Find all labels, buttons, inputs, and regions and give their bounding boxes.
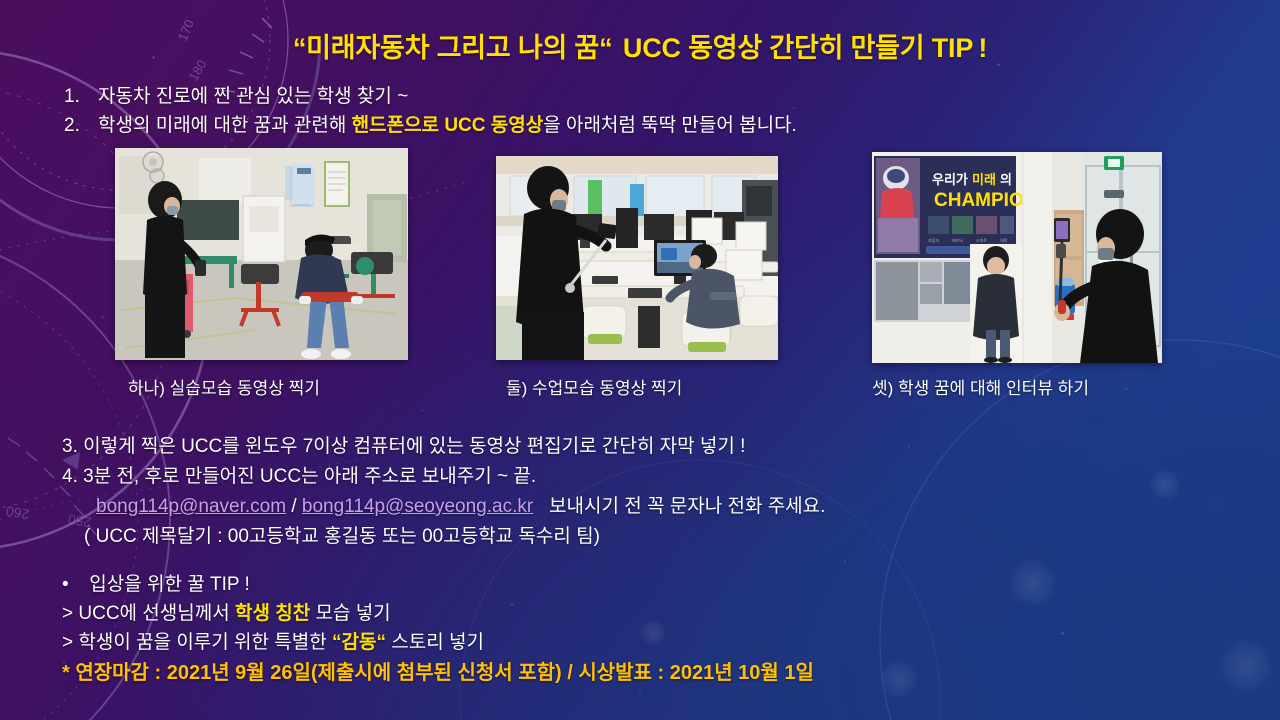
photo-caption: 셋) 학생 꿈에 대해 인터뷰 하기 xyxy=(872,374,1089,399)
step2-highlight: 핸드폰으로 UCC 동영상 xyxy=(352,115,544,136)
tips-heading-text: 입상을 위한 꿀 TIP ! xyxy=(89,574,250,595)
svg-text:대학: 대학 xyxy=(1000,237,1008,243)
numbered-step-list: 1. 자동차 진로에 찐 관심 있는 학생 찾기 ~ 2. 학생의 미래에 대한… xyxy=(64,84,1124,142)
photo-caption: 하나) 실습모습 동영상 찍기 xyxy=(128,374,320,399)
email-link-seoyeong[interactable]: bong114p@seoyeong.ac.kr xyxy=(302,496,533,517)
step-3-line: 3. 이렇게 찍은 UCC를 윈도우 7이상 컴퓨터에 있는 동영상 편집기로 … xyxy=(62,432,1182,462)
list-item-text: 학생의 미래에 대한 꿈과 관련해 핸드폰으로 UCC 동영상을 아래처럼 뚝딱… xyxy=(98,113,797,139)
bullet-dot-icon: • xyxy=(62,570,84,599)
tip1-after: 모습 넣기 xyxy=(310,603,390,624)
tips-heading: • 입상을 위한 꿀 TIP ! xyxy=(62,570,1222,599)
title-rule-line: ( UCC 제목달기 : 00고등학교 홍길동 또는 00고등학교 독수리 팀) xyxy=(62,522,1182,552)
list-item: 2. 학생의 미래에 대한 꿈과 관련해 핸드폰으로 UCC 동영상을 아래처럼… xyxy=(64,113,1124,139)
photo-caption: 둘) 수업모습 동영상 찍기 xyxy=(506,374,682,399)
email-line: bong114p@naver.com / bong114p@seoyeong.a… xyxy=(62,492,1182,522)
slide-title: “미래자동차 그리고 나의 꿈“ UCC 동영상 간단히 만들기 TIP ! xyxy=(0,26,1280,65)
email-separator: / xyxy=(291,496,296,517)
list-item-index: 1. xyxy=(64,84,98,110)
svg-text:자동차: 자동차 xyxy=(928,237,939,243)
photo-practice-filming xyxy=(115,148,408,360)
deadline-line: * 연장마감 : 2021년 9월 26일(제출시에 첨부된 신청서 포함) /… xyxy=(62,657,1222,689)
tip2-after: 스토리 넣기 xyxy=(386,632,484,653)
step2-text-after: 을 아래처럼 뚝딱 만들어 봅니다. xyxy=(543,115,797,136)
poster-text-line1c: 의 xyxy=(1000,172,1012,187)
tip-line-2: > 학생이 꿈을 이루기 위한 특별한 “감동“ 스토리 넣기 xyxy=(62,628,1222,657)
photo-class-filming xyxy=(496,156,778,360)
list-item-text: 자동차 진로에 찐 관심 있는 학생 찾기 ~ xyxy=(98,84,408,110)
svg-text:스마트: 스마트 xyxy=(976,237,987,243)
tip1-before: > UCC에 선생님께서 xyxy=(62,603,235,624)
lower-instruction-block: 3. 이렇게 찍은 UCC를 윈도우 7이상 컴퓨터에 있는 동영상 편집기로 … xyxy=(62,432,1182,552)
title-rest-part: UCC 동영상 간단히 만들기 TIP ! xyxy=(623,33,987,63)
step-4-line: 4. 3분 전, 후로 만들어진 UCC는 아래 주소로 보내주기 ~ 끝. xyxy=(62,462,1182,492)
step2-text-before: 학생의 미래에 대한 꿈과 관련해 xyxy=(98,115,352,136)
tip1-highlight: 학생 칭찬 xyxy=(235,603,310,624)
svg-text:메카닉: 메카닉 xyxy=(952,237,963,243)
title-quoted-part: “미래자동차 그리고 나의 꿈“ xyxy=(293,33,613,63)
slide-canvas: 170 180 260 250 “미래자동차 그리고 나의 꿈“ UCC 동영상… xyxy=(0,0,1280,720)
tips-block: • 입상을 위한 꿀 TIP ! > UCC에 선생님께서 학생 칭찬 모습 넣… xyxy=(62,570,1222,689)
svg-text:260: 260 xyxy=(5,503,31,523)
email-note: 보내시기 전 꼭 문자나 전화 주세요. xyxy=(549,496,825,517)
poster-text-line1a: 우리가 xyxy=(932,172,968,187)
bokeh-dot xyxy=(1220,640,1272,692)
tip2-highlight: “감동“ xyxy=(332,632,386,653)
poster-text-line1b: 미래 xyxy=(972,172,996,187)
tip-line-1: > UCC에 선생님께서 학생 칭찬 모습 넣기 xyxy=(62,599,1222,628)
list-item: 1. 자동차 진로에 찐 관심 있는 학생 찾기 ~ xyxy=(64,84,1124,110)
email-link-naver[interactable]: bong114p@naver.com xyxy=(96,496,286,517)
list-item-index: 2. xyxy=(64,113,98,139)
photo-interview-filming: 우리가 미래 의 CHAMPION! 자동차메카닉스마트대학 xyxy=(872,152,1162,363)
tip2-before: > 학생이 꿈을 이루기 위한 특별한 xyxy=(62,632,332,653)
